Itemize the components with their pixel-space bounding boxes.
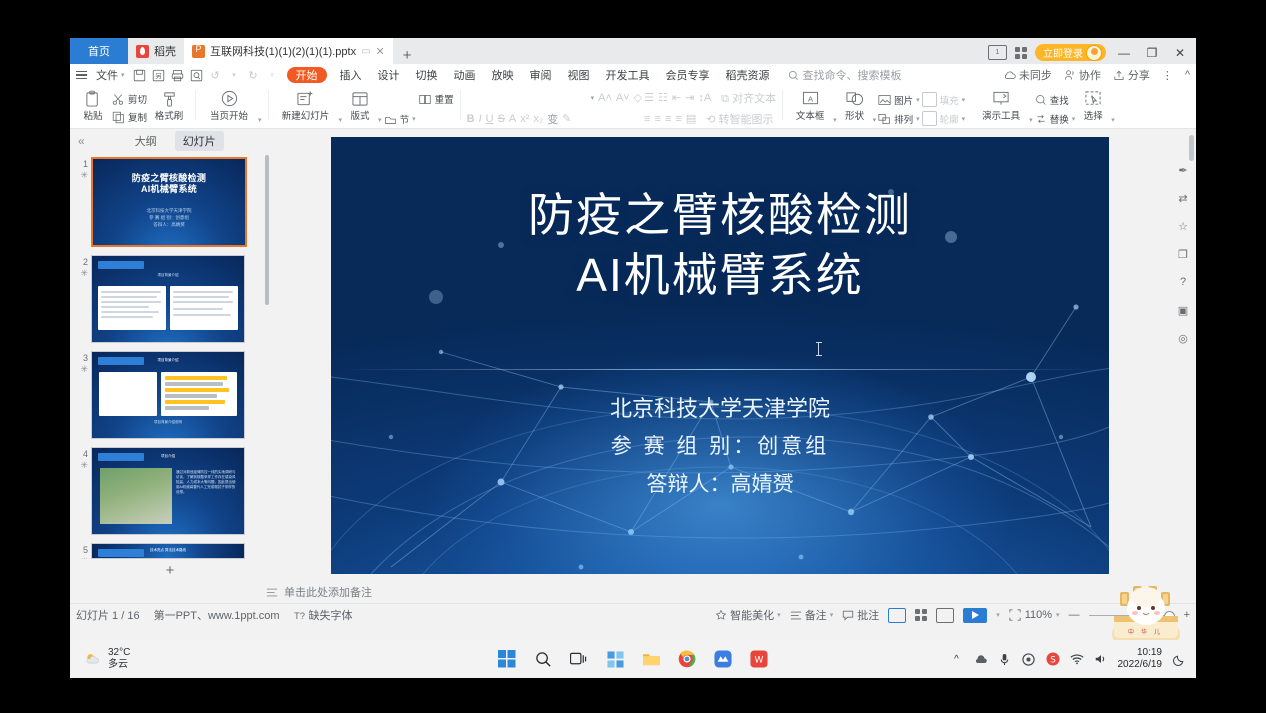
shape-label: 形状 <box>845 108 864 122</box>
align-right-icon[interactable]: ≡ <box>665 113 671 125</box>
shape-caret-icon[interactable]: ▾ <box>873 116 877 126</box>
file-menu-label: 文件 <box>96 67 118 83</box>
reading-view-icon[interactable] <box>936 608 954 623</box>
cloud-icon[interactable] <box>974 652 988 666</box>
picture-button[interactable]: 图片 ▾ <box>878 92 920 108</box>
print-icon[interactable] <box>168 67 187 83</box>
increase-indent-icon[interactable]: ⇥ <box>685 91 694 104</box>
resize-icon[interactable]: ⇄ <box>1174 189 1192 207</box>
textbox-button[interactable]: A 文本框 <box>789 88 831 122</box>
moon-icon[interactable] <box>1172 652 1186 666</box>
microphone-icon[interactable] <box>998 652 1012 666</box>
minimize-button[interactable]: — <box>1114 46 1134 60</box>
ribbon-divider-4 <box>782 90 783 120</box>
new-slide-label: 新建幻灯片 <box>282 108 330 122</box>
presentation-tools-icon <box>992 89 1011 108</box>
missing-font-status[interactable]: T? 缺失字体 <box>294 607 353 623</box>
slide-thumbnail-3[interactable]: 项目背景介绍 项目背景介绍说明 <box>91 351 245 439</box>
maximize-button[interactable]: ❐ <box>1142 46 1162 60</box>
fill-icon <box>922 92 937 107</box>
number-list-icon[interactable]: ☷ <box>658 91 668 104</box>
align-center-icon[interactable]: ≡ <box>655 113 661 125</box>
normal-view-icon[interactable] <box>888 608 906 623</box>
slide-title-line2: AI机械臂系统 <box>576 249 863 301</box>
tab-design[interactable]: 设计 <box>370 67 408 83</box>
columns-icon[interactable]: ▤ <box>686 112 696 125</box>
outline-tab[interactable]: 大纲 <box>127 131 165 151</box>
thumb-title-l2: AI机械臂系统 <box>141 184 197 194</box>
decrease-indent-icon[interactable]: ⇤ <box>672 91 681 104</box>
slide-thumbnail-list[interactable]: 1✳ 防疫之臂核酸检测 AI机械臂系统 北京科技大学天津学院 参 赛 组 别：创… <box>70 153 270 559</box>
new-tab-label: + <box>403 47 412 64</box>
tab-transition-label: 切换 <box>416 70 438 82</box>
new-slide-icon <box>296 89 315 108</box>
zoom-out-label: — <box>1069 609 1080 621</box>
start-button[interactable] <box>496 648 518 670</box>
tab-docer[interactable]: 稻壳资源 <box>718 67 778 83</box>
comment-button[interactable]: 批注 <box>842 607 879 623</box>
thumb-background <box>93 159 245 245</box>
copy-button[interactable]: 复制 <box>112 109 147 125</box>
windows-icon <box>498 650 516 668</box>
line-spacing-icon[interactable]: ↕A <box>698 92 711 104</box>
thumb-header-text: 项目介绍 <box>100 454 236 459</box>
help-icon[interactable]: ? <box>1174 273 1192 291</box>
slide-thumbnail-5[interactable]: 技术亮点 算法技术路线 <box>91 543 245 559</box>
save-icon[interactable] <box>130 67 149 83</box>
file-menu[interactable]: 文件 ▾ <box>91 67 130 83</box>
people-icon <box>1064 69 1076 81</box>
tab-docer-label: 稻壳资源 <box>726 70 770 82</box>
login-button[interactable]: 立即登录 <box>1035 44 1106 61</box>
close-label: ✕ <box>1175 46 1185 60</box>
cut-label: 剪切 <box>128 92 147 106</box>
right-side-toolbar: ✒ ⇄ ☆ ❐ ? ▣ ◎ <box>1170 129 1196 581</box>
layout-caret-icon[interactable]: ▾ <box>378 116 382 126</box>
partly-cloudy-icon <box>84 652 102 666</box>
slide-canvas[interactable]: 防疫之臂核酸检测 AI机械臂系统 北京科技大学天津学院 参 赛 组 别：创意组 … <box>331 137 1109 574</box>
thumb-paragraph: 通过对新冠疫情防控一线的实地调研与访谈，了解到核酸采样工作存在感染风险高、人力成… <box>176 470 238 495</box>
collapse-panel-icon[interactable]: « <box>78 134 85 148</box>
slide-number: 4✳ <box>76 447 88 535</box>
thumb-table <box>99 372 157 416</box>
slide-number: 3✳ <box>76 351 88 439</box>
thumb-subtitle: 北京科技大学天津学院 参 赛 组 别：创意组 答辩人：高婧赟 <box>93 207 245 228</box>
task-view-button[interactable] <box>568 648 590 670</box>
list-item[interactable]: 3✳ 项目背景介绍 项目背景介绍说明 <box>70 349 270 445</box>
select-caret-icon[interactable]: ▾ <box>1111 116 1115 126</box>
outline-caret-icon: ▾ <box>962 115 966 123</box>
slide-sorter-icon[interactable] <box>915 609 927 621</box>
powerpoint-file-icon <box>192 45 205 58</box>
hamburger-icon[interactable] <box>76 71 87 80</box>
collapse-ribbon-icon[interactable]: ^ <box>1185 69 1190 81</box>
notes-placeholder: 单击此处添加备注 <box>284 584 372 600</box>
comment-label: 批注 <box>857 607 879 623</box>
s-icon[interactable]: S <box>1046 652 1060 666</box>
fill-label: 填充 <box>940 93 959 107</box>
ribbon-group-font: ▾ A˄ A˅ ◇ B I U S A x² x₂ 变 ✎ <box>467 88 643 126</box>
start-from-page-button[interactable]: 当页开始 <box>202 88 256 122</box>
thumb-header-text: 项目背景介绍 <box>100 358 236 363</box>
replace-icon <box>1035 113 1047 125</box>
section-label: 节 <box>400 112 410 126</box>
select-icon <box>1084 89 1102 108</box>
reset-button[interactable]: 重置 <box>418 88 454 129</box>
play-caret-icon[interactable]: ▾ <box>996 611 1000 619</box>
wps-office[interactable]: W <box>748 648 770 670</box>
fit-to-window-icon <box>1009 609 1021 621</box>
zoom-level-label: 110% <box>1025 609 1052 621</box>
undo-caret-icon[interactable]: ▾ <box>225 67 244 83</box>
zoom-caret-icon: ▾ <box>1056 611 1060 619</box>
search-icon <box>535 651 552 668</box>
arrange-button[interactable]: 排列 ▾ <box>878 111 920 127</box>
format-painter-icon <box>161 89 178 108</box>
print-preview-icon[interactable] <box>187 67 206 83</box>
convert-smartart-button[interactable]: ⟲ 转智能图示 <box>706 111 773 127</box>
close-tab-icon[interactable]: ✕ <box>376 45 385 58</box>
canvas-scrollbar[interactable] <box>1189 135 1194 161</box>
slide-number-label: 5 <box>83 545 88 555</box>
section-icon <box>384 113 397 126</box>
slides-tab[interactable]: 幻灯片 <box>175 131 224 151</box>
tab-slideshow[interactable]: 放映 <box>484 67 522 83</box>
list-item[interactable]: 5✳ 技术亮点 算法技术路线 <box>70 541 270 559</box>
widgets-button[interactable] <box>604 648 626 670</box>
tab-animation[interactable]: 动画 <box>446 67 484 83</box>
svg-text:A: A <box>808 94 814 103</box>
thumb-header-tag <box>98 261 144 269</box>
redo-icon[interactable]: ↻ <box>244 67 263 83</box>
home-tab[interactable]: 首页 <box>70 38 128 64</box>
new-tab-button[interactable]: + <box>393 47 422 64</box>
slide-title[interactable]: 防疫之臂核酸检测 AI机械臂系统 <box>331 185 1109 305</box>
thumb-sub1: 北京科技大学天津学院 <box>147 208 192 213</box>
file-explorer[interactable] <box>640 648 662 670</box>
layout-button[interactable]: 版式 <box>344 88 376 122</box>
copy-pane-icon[interactable]: ❐ <box>1174 245 1192 263</box>
layout-icon <box>351 89 369 108</box>
wps-presentation-window: 首页 稻壳 互联网科技(1)(1)(2)(1)(1).pptx ▭ ✕ + 1 … <box>70 38 1196 678</box>
slide-subtitle-line1: 北京科技大学天津学院 <box>331 390 1109 428</box>
weather-desc: 多云 <box>108 659 130 671</box>
bold-button[interactable]: B <box>467 113 475 125</box>
slide-number: 2✳ <box>76 255 88 343</box>
command-search[interactable]: 查找命令、搜索模板 <box>788 67 902 83</box>
presentation-tools-label: 演示工具 <box>982 108 1020 122</box>
volume-icon[interactable] <box>1094 652 1108 666</box>
reset-icon <box>418 93 432 106</box>
search-icon <box>788 70 799 81</box>
thumb-sub2: 参 赛 组 别：创意组 <box>149 215 189 220</box>
chevron-up-icon[interactable]: ^ <box>950 652 964 666</box>
share-icon <box>1113 69 1125 81</box>
textbox-caret-icon[interactable]: ▾ <box>833 116 837 126</box>
zoom-out-button[interactable]: — <box>1069 609 1080 621</box>
svg-text:中: 中 <box>1128 628 1134 636</box>
thumb-footer-text: 项目背景介绍说明 <box>100 420 236 425</box>
navigator-scrollbar[interactable] <box>265 155 269 305</box>
outline-tab-label: 大纲 <box>135 136 157 148</box>
image-pane-icon[interactable]: ▣ <box>1174 301 1192 319</box>
thumb-title: 防疫之臂核酸检测 AI机械臂系统 <box>93 173 245 195</box>
replace-button[interactable]: 替换 ▾ <box>1035 111 1076 127</box>
subscript-icon[interactable]: x₂ <box>533 113 543 125</box>
font-style-row: B I U S A x² x₂ 变 ✎ <box>467 110 643 127</box>
tab-transition[interactable]: 切换 <box>408 67 446 83</box>
paste-button[interactable]: 粘贴 <box>76 88 110 122</box>
fill-button[interactable]: 填充 ▾ <box>922 92 966 108</box>
folder-icon <box>642 651 661 667</box>
wifi-icon[interactable] <box>1070 652 1084 666</box>
slide-title-line1: 防疫之臂核酸检测 <box>528 189 912 241</box>
beautify-button[interactable]: 智能美化 ▾ <box>715 607 781 623</box>
menubar-right: 未同步 协作 分享 ⋮ ^ <box>1004 67 1190 83</box>
thumb-card-left <box>98 286 166 330</box>
ribbon-group-reset: 重置 <box>418 88 454 126</box>
notes-toggle-button[interactable]: 备注 ▾ <box>790 607 834 623</box>
tab-insert-label: 插入 <box>340 70 362 82</box>
strikethrough-button[interactable]: S <box>498 113 505 125</box>
list-item[interactable]: 4✳ 项目介绍 通过对新冠疫情防控一线的实地调研与访谈，了解到核酸采样工作存在感… <box>70 445 270 541</box>
svg-text:W: W <box>755 656 764 666</box>
slide-thumbnail-1[interactable]: 防疫之臂核酸检测 AI机械臂系统 北京科技大学天津学院 参 赛 组 别：创意组 … <box>91 157 247 247</box>
thumb-header-label: 项目背景介绍 <box>158 273 179 277</box>
tab-start[interactable]: 开始 <box>287 67 327 83</box>
weather-widget[interactable]: 32°C 多云 <box>70 647 130 671</box>
target-icon[interactable]: ◎ <box>1174 329 1192 347</box>
docer-tab-label: 稻壳 <box>154 43 176 59</box>
slide-number-label: 2 <box>83 257 88 267</box>
slide-thumbnail-2[interactable]: 项目背景介绍 <box>91 255 245 343</box>
login-label: 立即登录 <box>1043 45 1083 60</box>
arrange-icon <box>878 113 891 125</box>
layout-label: 版式 <box>351 108 370 122</box>
scissors-icon <box>112 93 125 106</box>
grow-font-icon[interactable]: A˄ <box>598 92 612 104</box>
collaborate-button[interactable]: 协作 <box>1064 67 1101 83</box>
presentation-tools-button[interactable]: 演示工具 <box>975 88 1027 122</box>
feather-icon[interactable]: ✒ <box>1174 161 1192 179</box>
beautify-caret-icon: ▾ <box>777 611 781 619</box>
copy-label: 复制 <box>128 110 147 124</box>
thumb-header-label: 项目介绍 <box>161 454 175 458</box>
replace-label: 替换 <box>1050 112 1069 126</box>
tab-member[interactable]: 会员专享 <box>658 67 718 83</box>
select-label: 选择 <box>1084 108 1103 122</box>
ribbon-group-format-painter: 格式刷 <box>149 88 189 126</box>
cut-button[interactable]: 剪切 <box>112 91 147 107</box>
pptx-tab[interactable]: 互联网科技(1)(1)(2)(1)(1).pptx ▭ ✕ <box>184 38 393 64</box>
add-slide-label: + <box>166 562 175 579</box>
ribbon-toolbar: 粘贴 剪切 复制 格式刷 <box>70 86 1196 129</box>
list-item[interactable]: 2✳ 项目背景介绍 <box>70 253 270 349</box>
notes-toggle-label: 备注 <box>805 607 827 623</box>
tab-review[interactable]: 审阅 <box>522 67 560 83</box>
star-marker: ✳ <box>76 460 88 471</box>
outline-icon <box>922 111 937 126</box>
italic-button[interactable]: I <box>479 113 482 125</box>
pptx-tab-label: 互联网科技(1)(1)(2)(1)(1).pptx <box>210 43 356 59</box>
new-slide-button[interactable]: 新建幻灯片 <box>275 88 337 122</box>
maximize-label: ❐ <box>1147 46 1158 60</box>
highlight-icon[interactable]: ✎ <box>562 112 571 125</box>
slide-number-label: 3 <box>83 353 88 363</box>
chrome[interactable] <box>676 648 698 670</box>
beautify-icon <box>715 609 727 621</box>
clock[interactable]: 10:19 2022/6/19 <box>1118 647 1163 671</box>
status-bar: 幻灯片 1 / 16 第一PPT、www.1ppt.com T? 缺失字体 智能… <box>70 603 1196 626</box>
underline-button[interactable]: U <box>486 113 494 125</box>
superscript-icon[interactable]: x² <box>520 113 529 125</box>
command-search-placeholder: 查找命令、搜索模板 <box>803 67 902 83</box>
list-item[interactable]: 1✳ 防疫之臂核酸检测 AI机械臂系统 北京科技大学天津学院 参 赛 组 别：创… <box>70 155 270 253</box>
find-button[interactable]: 查找 <box>1035 92 1076 108</box>
clock-time: 10:19 <box>1118 647 1163 659</box>
ribbon-group-start-from-page: 当页开始 ▾ <box>202 88 262 126</box>
thumb-header-text: 技术亮点 算法技术路线 <box>100 548 236 553</box>
outline-button[interactable]: 轮廓 ▾ <box>922 111 966 127</box>
bullet-list-icon[interactable]: ☰ <box>644 91 654 104</box>
sync-status[interactable]: 未同步 <box>1004 67 1052 83</box>
close-button[interactable]: ✕ <box>1170 46 1190 60</box>
section-caret-icon: ▾ <box>412 115 416 123</box>
new-slide-caret-icon[interactable]: ▾ <box>339 116 343 126</box>
ribbon-group-layout: 版式 ▾ 节 ▾ <box>344 88 416 126</box>
thumb-title-l1: 防疫之臂核酸检测 <box>132 173 206 183</box>
beautify-label: 智能美化 <box>730 607 774 623</box>
picture-label: 图片 <box>894 93 913 107</box>
font-size-caret-icon[interactable]: ▾ <box>591 94 595 102</box>
replace-caret-icon: ▾ <box>1072 115 1076 123</box>
format-painter-button[interactable]: 格式刷 <box>149 88 189 122</box>
missing-font-label: 缺失字体 <box>309 607 353 623</box>
undo-icon[interactable]: ↺ <box>206 67 225 83</box>
star-glyph: ☆ <box>1178 220 1188 233</box>
notes-toggle-icon <box>790 610 802 621</box>
shape-button[interactable]: 形状 <box>839 88 871 122</box>
more-options-icon[interactable]: ⋮ <box>1162 69 1173 82</box>
thumb-header-label: 项目背景介绍 <box>158 358 179 362</box>
textbox-icon: A <box>801 89 820 108</box>
slide-number-label: 4 <box>83 449 88 459</box>
play-button[interactable] <box>963 608 987 623</box>
add-slide-button[interactable]: + <box>70 559 270 581</box>
ribbon-group-clipboard: 粘贴 剪切 复制 <box>76 88 147 126</box>
tab-devtools[interactable]: 开发工具 <box>598 67 658 83</box>
start-from-page-caret-icon[interactable]: ▾ <box>258 116 262 126</box>
format-painter-label: 格式刷 <box>155 108 184 122</box>
slide-number-label: 1 <box>83 159 88 169</box>
clipboard-small-buttons: 剪切 复制 <box>112 88 147 127</box>
section-button[interactable]: 节 ▾ <box>384 88 416 128</box>
fill-caret-icon: ▾ <box>962 96 966 104</box>
shrink-font-icon[interactable]: A˅ <box>616 92 630 104</box>
wps-icon: W <box>750 650 768 668</box>
select-button[interactable]: 选择 <box>1077 88 1109 122</box>
ribbon-group-tools: 演示工具 ▾ 查找 替换 ▾ 选择 ▾ <box>975 88 1115 126</box>
star-marker: ✳ <box>76 268 88 279</box>
ribbon-group-new-slide: 新建幻灯片 ▾ <box>275 88 343 126</box>
search-button[interactable] <box>532 648 554 670</box>
clear-format-icon[interactable]: ◇ <box>634 91 642 104</box>
widgets-icon <box>607 651 624 668</box>
customize-icon[interactable]: ▿ <box>263 67 282 83</box>
multi-pane-icon[interactable] <box>1015 47 1027 59</box>
notes-icon <box>266 587 278 598</box>
avatar <box>1086 45 1102 61</box>
notes-toggle-caret-icon: ▾ <box>830 611 834 619</box>
taskbar-apps: W <box>496 648 770 670</box>
notes-pane[interactable]: 单击此处添加备注 <box>70 581 1196 603</box>
slide-subtitle[interactable]: 北京科技大学天津学院 参 赛 组 别：创意组 答辩人：高婧赟 <box>331 390 1109 504</box>
feather-glyph: ✒ <box>1178 164 1187 177</box>
text-effect-icon[interactable]: 变 <box>547 111 558 127</box>
star-marker: ✳ <box>76 364 88 375</box>
system-tray: ^ S 10:19 2022/6/19 <box>950 647 1197 671</box>
svg-text:华: 华 <box>1141 628 1147 636</box>
justify-icon[interactable]: ≡ <box>675 113 681 125</box>
tab-view[interactable]: 视图 <box>560 67 598 83</box>
slide-editor-stage[interactable]: 防疫之臂核酸检测 AI机械臂系统 北京科技大学天津学院 参 赛 组 别：创意组 … <box>270 129 1170 581</box>
tab-insert[interactable]: 插入 <box>332 67 370 83</box>
paste-label: 粘贴 <box>83 108 102 122</box>
circle-icon[interactable] <box>1022 652 1036 666</box>
thumb-header-text: 项目背景介绍 <box>100 273 236 278</box>
text-cursor <box>818 342 819 356</box>
clock-date: 2022/6/19 <box>1118 659 1163 671</box>
single-pane-icon[interactable]: 1 <box>988 45 1007 60</box>
work-area: « 大纲 幻灯片 1✳ 防疫之臂核酸检测 AI机械臂系统 北京科技大学天津学院 <box>70 129 1196 581</box>
slides-tab-label: 幻灯片 <box>183 136 216 148</box>
search-icon <box>1035 94 1047 106</box>
save-as-icon[interactable]: 另 <box>149 67 168 83</box>
fit-to-window-button[interactable]: 110% ▾ <box>1009 609 1060 621</box>
slide-subtitle-line3: 答辩人：高婧赟 <box>331 466 1109 504</box>
char-spacing-icon[interactable]: A <box>509 113 516 125</box>
align-text-button[interactable]: ⧉ 对齐文本 <box>721 90 776 106</box>
ribbon-group-paragraph: ☰ ☷ ⇤ ⇥ ↕A ⧉ 对齐文本 ≡ ≡ ≡ ≡ ▤ ⟲ 转智能图示 <box>644 88 776 126</box>
slide-divider <box>343 369 1097 370</box>
meeting-app[interactable] <box>712 648 734 670</box>
list-row: ☰ ☷ ⇤ ⇥ ↕A ⧉ 对齐文本 <box>644 89 776 106</box>
slide-counter: 幻灯片 1 / 16 <box>76 607 140 623</box>
textbox-label: 文本框 <box>796 108 825 122</box>
play-circle-icon <box>220 89 239 108</box>
slide-thumbnail-4[interactable]: 项目介绍 通过对新冠疫情防控一线的实地调研与访谈，了解到核酸采样工作存在感染风险… <box>91 447 245 535</box>
ribbon-group-objects: A 文本框 ▾ 形状 ▾ 图片 ▾ 排列 <box>789 88 965 126</box>
align-left-icon[interactable]: ≡ <box>644 113 650 125</box>
star-marker: ✳ <box>76 556 88 559</box>
svg-text:S: S <box>1050 656 1056 666</box>
collaborate-label: 协作 <box>1079 67 1101 83</box>
star-marker: ✳ <box>76 170 88 181</box>
navigator-tabs: « 大纲 幻灯片 <box>70 129 270 153</box>
star-icon[interactable]: ☆ <box>1174 217 1192 235</box>
ribbon-divider-3 <box>460 90 461 120</box>
share-button[interactable]: 分享 <box>1113 67 1150 83</box>
font-warning-icon: T? <box>294 610 306 621</box>
windows-taskbar: 32°C 多云 W ^ <box>70 640 1196 678</box>
docer-tab[interactable]: 稻壳 <box>128 38 184 64</box>
arrange-caret-icon: ▾ <box>916 115 920 123</box>
docer-flame-icon <box>136 45 149 58</box>
picture-caret-icon: ▾ <box>916 96 920 104</box>
copy-icon <box>112 111 125 124</box>
presentation-tools-caret-icon[interactable]: ▾ <box>1029 116 1033 126</box>
monitor-icon[interactable]: ▭ <box>361 46 370 57</box>
